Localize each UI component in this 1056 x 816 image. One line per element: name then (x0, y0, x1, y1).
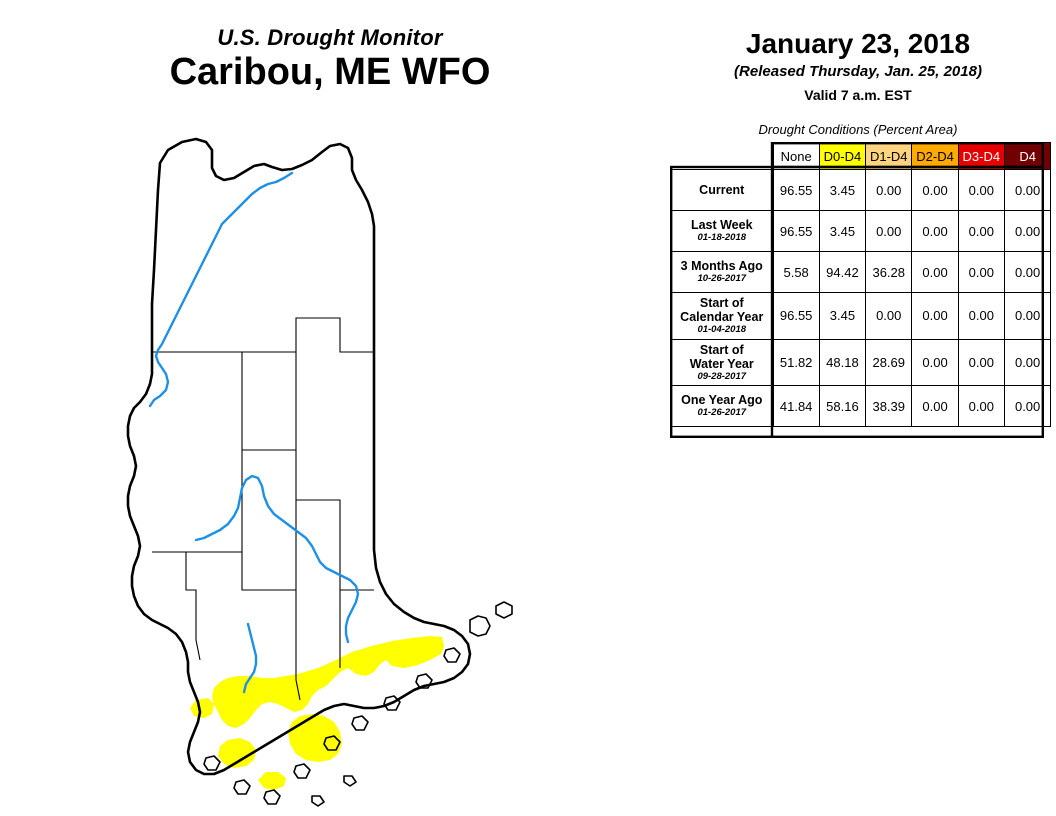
table-cell: 0.00 (912, 211, 958, 252)
table-cell: 36.28 (866, 252, 912, 293)
drought-monitor-page: U.S. Drought Monitor Caribou, ME WFO (0, 0, 1056, 816)
table-cell: 3.45 (819, 170, 865, 211)
table-corner-cell (671, 143, 774, 170)
table-cell: 0.00 (958, 252, 1004, 293)
table-cell: 0.00 (1004, 386, 1050, 427)
table-cell: 3.45 (819, 293, 865, 340)
date-block: January 23, 2018 (Released Thursday, Jan… (660, 28, 1056, 104)
table-caption: Drought Conditions (Percent Area) (660, 122, 1056, 137)
table-cell: 0.00 (958, 386, 1004, 427)
table-row: Current96.553.450.000.000.000.00 (671, 170, 1051, 211)
table-cell: 0.00 (866, 170, 912, 211)
table-cell: 94.42 (819, 252, 865, 293)
table-cell: 48.18 (819, 339, 865, 386)
table-cell: 5.58 (773, 252, 819, 293)
row-date: 10-26-2017 (673, 274, 771, 285)
table-body: Current96.553.450.000.000.000.00Last Wee… (671, 170, 1051, 427)
row-label: One Year Ago01-26-2017 (671, 386, 774, 427)
table-cell: 0.00 (912, 386, 958, 427)
row-date: 01-26-2017 (673, 408, 771, 419)
table-cell: 0.00 (1004, 170, 1050, 211)
table-cell: 0.00 (866, 211, 912, 252)
table-col-header-d0-d4: D0-D4 (819, 143, 865, 170)
table-cell: 96.55 (773, 170, 819, 211)
table-cell: 58.16 (819, 386, 865, 427)
table-col-header-d4: D4 (1004, 143, 1050, 170)
table-cell: 0.00 (1004, 252, 1050, 293)
row-label: Last Week01-18-2018 (671, 211, 774, 252)
table-cell: 3.45 (819, 211, 865, 252)
table-cell: 96.55 (773, 293, 819, 340)
table-cell: 41.84 (773, 386, 819, 427)
table-cell: 0.00 (1004, 293, 1050, 340)
table-row: Last Week01-18-201896.553.450.000.000.00… (671, 211, 1051, 252)
drought-conditions-table: NoneD0-D4D1-D4D2-D4D3-D4D4 Current96.553… (670, 142, 1051, 427)
table-row: Start ofWater Year09-28-201751.8248.1828… (671, 339, 1051, 386)
table-cell: 0.00 (958, 211, 1004, 252)
table-cell: 0.00 (1004, 211, 1050, 252)
region-title: Caribou, ME WFO (0, 51, 660, 94)
table-cell: 28.69 (866, 339, 912, 386)
river-lines (150, 173, 358, 692)
table-cell: 0.00 (958, 293, 1004, 340)
row-label: 3 Months Ago10-26-2017 (671, 252, 774, 293)
table-cell: 0.00 (1004, 339, 1050, 386)
table-col-header-d1-d4: D1-D4 (866, 143, 912, 170)
maine-drought-map[interactable] (0, 120, 660, 810)
table-cell: 0.00 (958, 170, 1004, 211)
table-col-header-d3-d4: D3-D4 (958, 143, 1004, 170)
table-cell: 0.00 (912, 293, 958, 340)
table-cell: 51.82 (773, 339, 819, 386)
table-cell: 96.55 (773, 211, 819, 252)
table-col-header-none: None (773, 143, 819, 170)
table-header-row: NoneD0-D4D1-D4D2-D4D3-D4D4 (671, 143, 1051, 170)
release-date: (Released Thursday, Jan. 25, 2018) (660, 62, 1056, 82)
map-title-block: U.S. Drought Monitor Caribou, ME WFO (0, 26, 660, 94)
table-row: 3 Months Ago10-26-20175.5894.4236.280.00… (671, 252, 1051, 293)
table-cell: 0.00 (866, 293, 912, 340)
row-label: Current (671, 170, 774, 211)
map-panel: U.S. Drought Monitor Caribou, ME WFO (0, 0, 660, 816)
county-borders (152, 318, 374, 700)
report-date: January 23, 2018 (660, 28, 1056, 59)
valid-time: Valid 7 a.m. EST (660, 86, 1056, 104)
table-cell: 0.00 (912, 339, 958, 386)
row-date: 01-18-2018 (673, 233, 771, 244)
info-panel: January 23, 2018 (Released Thursday, Jan… (660, 0, 1056, 816)
table-col-header-d2-d4: D2-D4 (912, 143, 958, 170)
table-cell: 0.00 (912, 170, 958, 211)
table-row: One Year Ago01-26-201741.8458.1638.390.0… (671, 386, 1051, 427)
row-label: Start ofCalendar Year01-04-2018 (671, 293, 774, 340)
row-date: 09-28-2017 (673, 372, 771, 383)
table-cell: 0.00 (912, 252, 958, 293)
row-label: Start ofWater Year09-28-2017 (671, 339, 774, 386)
program-title: U.S. Drought Monitor (0, 26, 660, 49)
table-cell: 0.00 (958, 339, 1004, 386)
table-cell: 38.39 (866, 386, 912, 427)
table-row: Start ofCalendar Year01-04-201896.553.45… (671, 293, 1051, 340)
row-date: 01-04-2018 (673, 325, 771, 336)
